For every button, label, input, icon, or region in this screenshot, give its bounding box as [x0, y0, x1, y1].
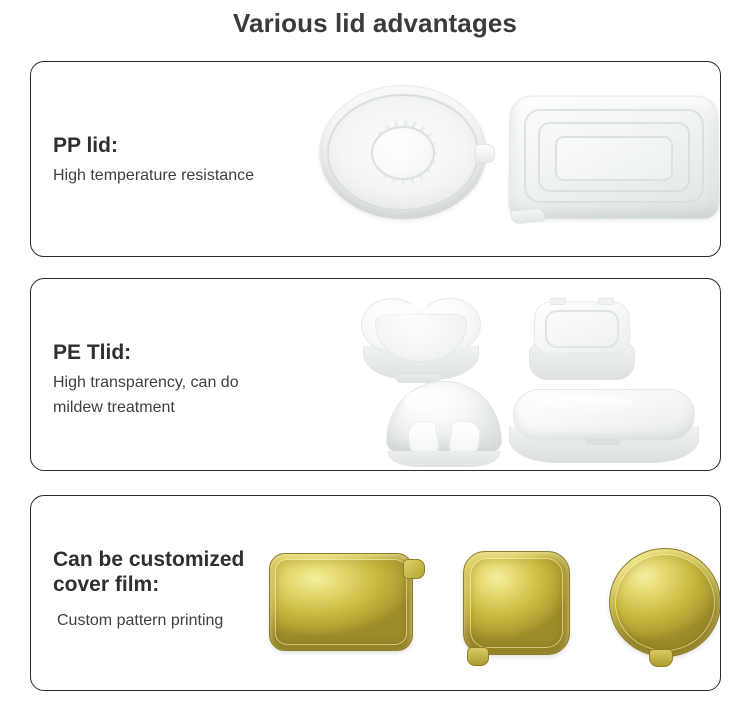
gold-rect-tab	[403, 559, 425, 579]
pe-oval-seam	[585, 439, 621, 445]
pe-lid-label-block: PE Tlid: High transparency, can do milde…	[53, 341, 239, 420]
page-title: Various lid advantages	[0, 8, 750, 39]
pe-dome-shell	[386, 381, 502, 455]
gold-square-inner-edge	[470, 558, 563, 648]
pp-lid-subtitle: High temperature resistance	[53, 164, 254, 189]
pe-dome-highlight	[404, 389, 448, 413]
gold-circle-tab	[649, 649, 673, 667]
pe-square-notch-right	[598, 298, 614, 305]
pp-round-tab	[475, 144, 495, 163]
pp-rect-ring-inner	[555, 136, 673, 181]
cover-film-subtitle: Custom pattern printing	[57, 609, 244, 634]
card-pp-lid: PP lid: High temperature resistance	[30, 61, 721, 257]
heart-shaped-pe-lid-image	[361, 296, 481, 380]
pe-oval-gloss	[537, 396, 633, 412]
card-pe-lid: PE Tlid: High transparency, can do milde…	[30, 278, 721, 471]
pe-heart-gloss	[377, 304, 431, 324]
pe-square-inner-panel	[545, 310, 619, 348]
pe-dome-base-ring	[388, 451, 500, 467]
dome-pe-lid-image	[386, 381, 502, 467]
square-pe-lid-image	[526, 298, 638, 380]
gold-round-foil-lid-image	[609, 548, 721, 657]
lid-advantages-page: Various lid advantages PP lid: High temp…	[0, 0, 750, 713]
pe-square-notch-left	[550, 298, 566, 305]
rectangular-pp-lid-image	[509, 95, 719, 219]
pp-lid-title: PP lid:	[53, 134, 254, 159]
pe-heart-top	[361, 296, 481, 358]
gold-square-tab	[467, 647, 489, 666]
card-cover-film: Can be customized cover film: Custom pat…	[30, 495, 721, 691]
round-ribbed-pp-lid-image	[319, 85, 487, 220]
cover-film-label-block: Can be customized cover film: Custom pat…	[53, 548, 244, 633]
pe-dome-wedge-left	[406, 421, 441, 455]
pp-rect-tab	[510, 208, 545, 225]
gold-rectangular-foil-lid-image	[269, 553, 413, 651]
gold-rect-inner-edge	[275, 559, 407, 645]
oval-pe-lid-image	[509, 389, 699, 463]
pe-lid-title: PE Tlid:	[53, 341, 239, 366]
pp-lid-label-block: PP lid: High temperature resistance	[53, 134, 254, 189]
gold-square-foil-lid-image	[463, 551, 570, 655]
pp-round-hub	[371, 126, 435, 180]
gold-circle-inner-edge	[615, 554, 715, 651]
cover-film-title: Can be customized cover film:	[53, 548, 244, 598]
pe-lid-subtitle: High transparency, can do mildew treatme…	[53, 371, 239, 421]
